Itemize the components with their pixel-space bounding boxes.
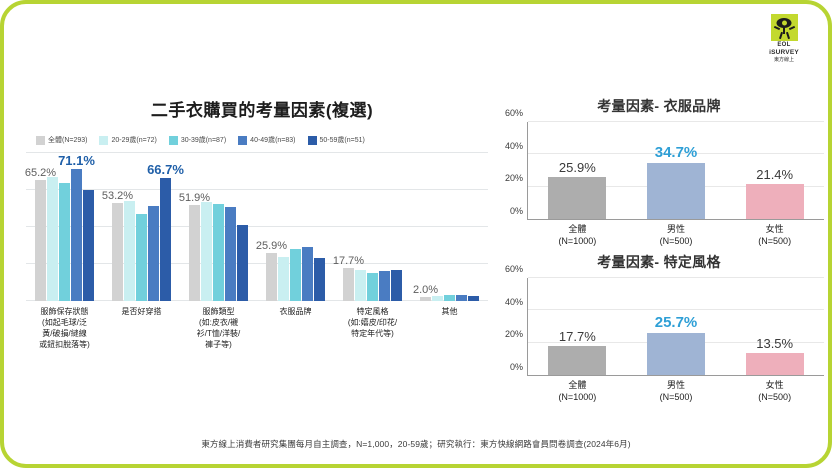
main-bar-chart: 二手衣購買的考量因素(複選) 全體(N=293)20-29歲(n=72)30-3… (26, 96, 488, 396)
main-chart-xaxis-labels: 服飾保存狀態(如起毛球/泛黃/破損/縫線或鈕扣脫落等)是否好穿搭服飾類型(如:皮… (26, 306, 488, 350)
logo-line-1: EOL (777, 42, 790, 49)
style-chart-plot: 17.7%25.7%13.5% (528, 278, 824, 376)
bar (278, 257, 289, 301)
bar (266, 253, 277, 301)
mini-bar (548, 177, 606, 219)
legend-swatch-icon (36, 136, 45, 145)
bar (136, 214, 147, 301)
mini-bar-column: 25.7% (627, 278, 726, 375)
mini-xaxis-label: 全體(N=1000) (528, 379, 627, 403)
bar-value-label: 51.9% (156, 192, 233, 204)
mini-xaxis-label: 男性(N=500) (627, 379, 726, 403)
xaxis-label: 衣服品牌 (257, 306, 334, 350)
slide-frame: EOL iSURVEY 東方線上 二手衣購買的考量因素(複選) 全體(N=293… (0, 0, 832, 468)
bar (468, 296, 479, 301)
yaxis-tick-label: 0% (510, 362, 523, 372)
style-chart-title: 考量因素- 特定風格 (494, 252, 824, 272)
mini-bars-row: 17.7%25.7%13.5% (528, 278, 824, 375)
yaxis-tick-label: 60% (505, 108, 523, 118)
bar-group: 25.9% (257, 153, 334, 301)
legend-label: 40-49歲(n=83) (250, 135, 295, 145)
xaxis-label: 是否好穿搭 (103, 306, 180, 350)
mini-xaxis-label: 女性(N=500) (725, 223, 824, 247)
mini-bar-column: 34.7% (627, 122, 726, 219)
mini-bar-value-label: 25.9% (528, 160, 627, 175)
legend-label: 全體(N=293) (48, 135, 87, 145)
yaxis-tick-label: 40% (505, 297, 523, 307)
mini-bar-value-label: 25.7% (627, 314, 726, 331)
bar (124, 201, 135, 301)
yaxis-tick-label: 40% (505, 141, 523, 151)
bar (83, 190, 94, 301)
footer-note: 東方線上消費者研究集團每月自主調查，N=1,000，20-59歲；研究執行：東方… (4, 438, 828, 450)
mini-bar (746, 184, 804, 219)
eol-logo: EOL iSURVEY 東方線上 (756, 14, 812, 64)
xaxis-label: 其他 (411, 306, 488, 350)
legend-item-0[interactable]: 全體(N=293) (36, 135, 87, 145)
bar (367, 273, 378, 301)
legend-label: 20-29歲(n=72) (111, 135, 156, 145)
main-chart-plot: 65.2%71.1%53.2%66.7%51.9%25.9%17.7%2.0% (26, 153, 488, 301)
bar-value-label: 25.9% (233, 240, 310, 252)
bar (35, 180, 46, 301)
xaxis-label: 服飾保存狀態(如起毛球/泛黃/破損/縫線或鈕扣脫落等) (26, 306, 103, 350)
brand-chart-plot: 25.9%34.7%21.4% (528, 122, 824, 220)
bar (237, 225, 248, 301)
brand-chart-yaxis: 0%20%40%60% (494, 122, 528, 220)
style-chart-xaxis-labels: 全體(N=1000)男性(N=500)女性(N=500) (528, 379, 824, 403)
mini-bar (746, 353, 804, 375)
main-chart-title: 二手衣購買的考量因素(複選) (36, 96, 488, 121)
style-chart-yaxis: 0%20%40%60% (494, 278, 528, 376)
bar-group: 2.0% (411, 153, 488, 301)
bar (148, 206, 159, 301)
bar-group: 53.2%66.7% (103, 153, 180, 301)
legend-label: 30-39歲(n=87) (181, 135, 226, 145)
bar (201, 202, 212, 301)
mini-bar (647, 333, 705, 375)
mini-bar-column: 13.5% (725, 278, 824, 375)
bar-group: 65.2%71.1% (26, 153, 103, 301)
bar (213, 204, 224, 301)
legend-item-1[interactable]: 20-29歲(n=72) (99, 135, 156, 145)
mini-bar-value-label: 34.7% (627, 144, 726, 161)
bar (47, 177, 58, 301)
bar (112, 203, 123, 301)
main-bars-row: 65.2%71.1%53.2%66.7%51.9%25.9%17.7%2.0% (26, 153, 488, 301)
yaxis-tick-label: 20% (505, 329, 523, 339)
brand-chart-xaxis-labels: 全體(N=1000)男性(N=500)女性(N=500) (528, 223, 824, 247)
mini-xaxis-label: 男性(N=500) (627, 223, 726, 247)
mini-bar (647, 163, 705, 219)
bar (225, 207, 236, 301)
mini-bar-column: 17.7% (528, 278, 627, 375)
mini-bar (548, 346, 606, 375)
bar-group: 51.9% (180, 153, 257, 301)
legend-label: 50-59歲(n=51) (320, 135, 365, 145)
mini-bar-value-label: 21.4% (725, 167, 824, 182)
legend-swatch-icon (238, 136, 247, 145)
bar (432, 296, 443, 301)
brand-bar-chart: 考量因素- 衣服品牌 0%20%40%60% 25.9%34.7%21.4% 全… (494, 96, 824, 246)
logo-line-3: 東方線上 (774, 57, 794, 64)
bar-value-label: 65.2% (2, 167, 79, 179)
bar (355, 270, 366, 301)
bar-value-label: 17.7% (310, 255, 387, 267)
mini-bar-column: 25.9% (528, 122, 627, 219)
mini-xaxis-label: 女性(N=500) (725, 379, 824, 403)
brand-chart-title: 考量因素- 衣服品牌 (494, 96, 824, 116)
bar (59, 183, 70, 301)
legend-item-4[interactable]: 50-59歲(n=51) (308, 135, 365, 145)
mini-xaxis-label: 全體(N=1000) (528, 223, 627, 247)
mini-bar-column: 21.4% (725, 122, 824, 219)
yaxis-tick-label: 60% (505, 264, 523, 274)
main-chart-legend: 全體(N=293)20-29歲(n=72)30-39歲(n=87)40-49歲(… (26, 135, 488, 145)
legend-item-3[interactable]: 40-49歲(n=83) (238, 135, 295, 145)
mini-bar-value-label: 17.7% (528, 329, 627, 344)
bar (420, 297, 431, 301)
xaxis-label: 特定風格(如:嬉皮/印花/特定年代等) (334, 306, 411, 350)
bar (343, 268, 354, 301)
bar (189, 205, 200, 301)
mini-bar-value-label: 13.5% (725, 336, 824, 351)
eol-mascot-icon (771, 14, 798, 41)
legend-swatch-icon (99, 136, 108, 145)
style-bar-chart: 考量因素- 特定風格 0%20%40%60% 17.7%25.7%13.5% 全… (494, 252, 824, 402)
xaxis-label: 服飾類型(如:皮衣/襯衫/T恤/洋裝/褲子等) (180, 306, 257, 350)
bar (290, 249, 301, 301)
legend-swatch-icon (169, 136, 178, 145)
mini-bars-row: 25.9%34.7%21.4% (528, 122, 824, 219)
logo-line-2: iSURVEY (769, 49, 799, 57)
bar-group: 17.7% (334, 153, 411, 301)
bar-value-label: 53.2% (79, 190, 156, 202)
bar-value-label: 2.0% (387, 284, 464, 296)
legend-swatch-icon (308, 136, 317, 145)
yaxis-tick-label: 20% (505, 173, 523, 183)
yaxis-tick-label: 0% (510, 206, 523, 216)
legend-item-2[interactable]: 30-39歲(n=87) (169, 135, 226, 145)
